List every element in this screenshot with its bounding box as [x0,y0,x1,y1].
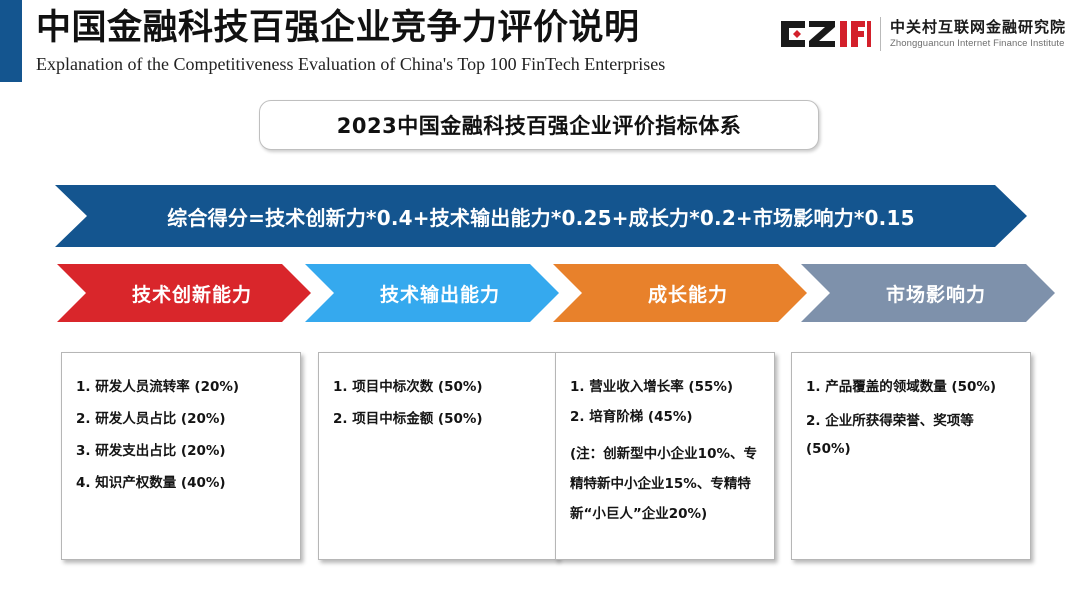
chevron-label-tech-output: 技术输出能力 [380,280,500,307]
card-line: 2. 研发人员占比 (20%) [76,411,288,427]
chevron-growth: 成长能力 [553,264,807,322]
institute-name-en: Zhongguancun Internet Finance Institute [890,37,1066,50]
czifi-logo-icon [779,19,871,49]
framework-title-text: 2023中国金融科技百强企业评价指标体系 [337,110,741,140]
indicator-card-growth: 1. 营业收入增长率 (55%) 2. 培育阶梯 (45%) (注：创新型中小企… [555,352,775,560]
card-line: 1. 项目中标次数 (50%) [333,379,545,395]
chevron-tech-output: 技术输出能力 [305,264,559,322]
chevron-market-influence: 市场影响力 [801,264,1055,322]
header-accent-bar [0,0,22,82]
framework-title-box: 2023中国金融科技百强企业评价指标体系 [259,100,819,150]
card-note: (注：创新型中小企业10%、专精特新中小企业15%、专精特新“小巨人”企业20%… [570,439,762,529]
institute-logo: 中关村互联网金融研究院 Zhongguancun Internet Financ… [779,12,1066,56]
chevron-tech-innovation: 技术创新能力 [57,264,311,322]
card-line: 3. 研发支出占比 (20%) [76,443,288,459]
page-header: 中国金融科技百强企业竞争力评价说明 Explanation of the Com… [0,0,1080,86]
card-line: 1. 营业收入增长率 (55%) [570,379,762,395]
category-chevron-row: 技术创新能力 技术输出能力 成长能力 市场影响力 [0,264,1080,322]
chevron-label-market-influence: 市场影响力 [886,280,986,307]
card-line: 1. 研发人员流转率 (20%) [76,379,288,395]
logo-divider [880,17,881,51]
card-line: 2. 企业所获得荣誉、奖项等 (50%) [806,407,1018,463]
indicator-card-tech-output: 1. 项目中标次数 (50%) 2. 项目中标金额 (50%) [318,352,558,560]
indicator-card-tech-innovation: 1. 研发人员流转率 (20%) 2. 研发人员占比 (20%) 3. 研发支出… [61,352,301,560]
indicator-card-market-influence: 1. 产品覆盖的领域数量 (50%) 2. 企业所获得荣誉、奖项等 (50%) [791,352,1031,560]
chevron-label-growth: 成长能力 [648,280,728,307]
logo-text-group: 中关村互联网金融研究院 Zhongguancun Internet Financ… [890,18,1066,50]
score-formula-banner: 综合得分=技术创新力*0.4+技术输出能力*0.25+成长力*0.2+市场影响力… [55,185,1027,247]
card-line: 2. 培育阶梯 (45%) [570,409,762,425]
score-formula-text: 综合得分=技术创新力*0.4+技术输出能力*0.25+成长力*0.2+市场影响力… [167,202,914,231]
page-title-cn: 中国金融科技百强企业竞争力评价说明 [36,6,736,50]
card-line: 4. 知识产权数量 (40%) [76,475,288,491]
chevron-label-tech-innovation: 技术创新能力 [132,280,252,307]
page-title-en: Explanation of the Competitiveness Evalu… [36,52,736,76]
indicator-card-row: 1. 研发人员流转率 (20%) 2. 研发人员占比 (20%) 3. 研发支出… [0,352,1080,562]
card-line: 2. 项目中标金额 (50%) [333,411,545,427]
card-line: 1. 产品覆盖的领域数量 (50%) [806,379,1018,395]
header-title-group: 中国金融科技百强企业竞争力评价说明 Explanation of the Com… [36,6,736,76]
institute-name-cn: 中关村互联网金融研究院 [890,18,1066,37]
